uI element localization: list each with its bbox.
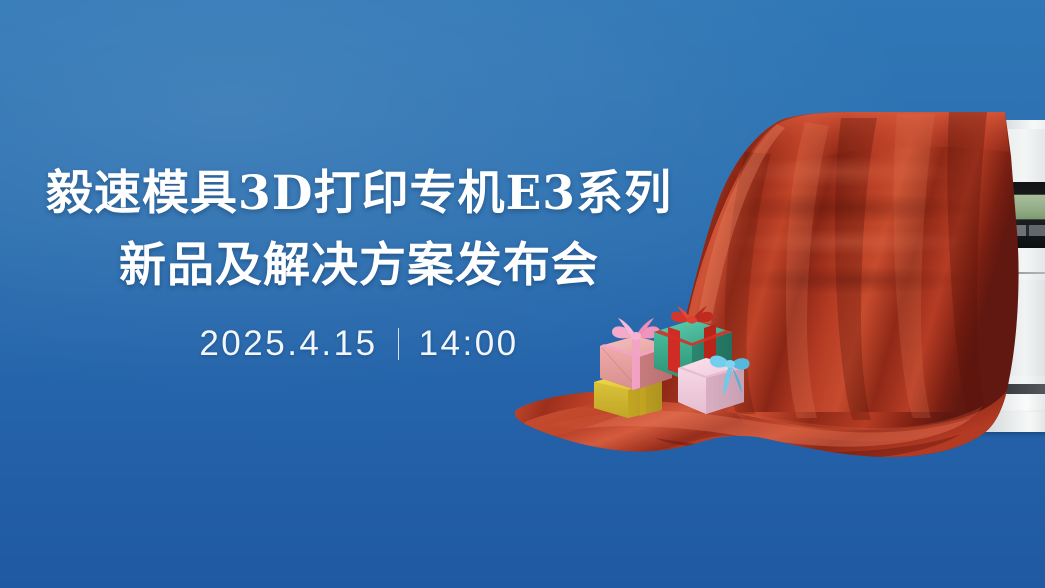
event-banner: 毅速模具3D打印专机E3系列 新品及解决方案发布会 2025.4.15 14:0… — [0, 0, 1045, 588]
lightpink-gift-box — [678, 356, 749, 415]
headline-block: 毅速模具3D打印专机E3系列 新品及解决方案发布会 2025.4.15 14:0… — [0, 158, 718, 364]
datetime-separator — [398, 328, 399, 360]
event-datetime: 2025.4.15 14:00 — [0, 324, 718, 364]
title-line-1: 毅速模具3D打印专机E3系列 — [0, 158, 718, 230]
event-date: 2025.4.15 — [199, 324, 377, 364]
title-line-2: 新品及解决方案发布会 — [0, 230, 718, 302]
event-time: 14:00 — [419, 324, 519, 364]
